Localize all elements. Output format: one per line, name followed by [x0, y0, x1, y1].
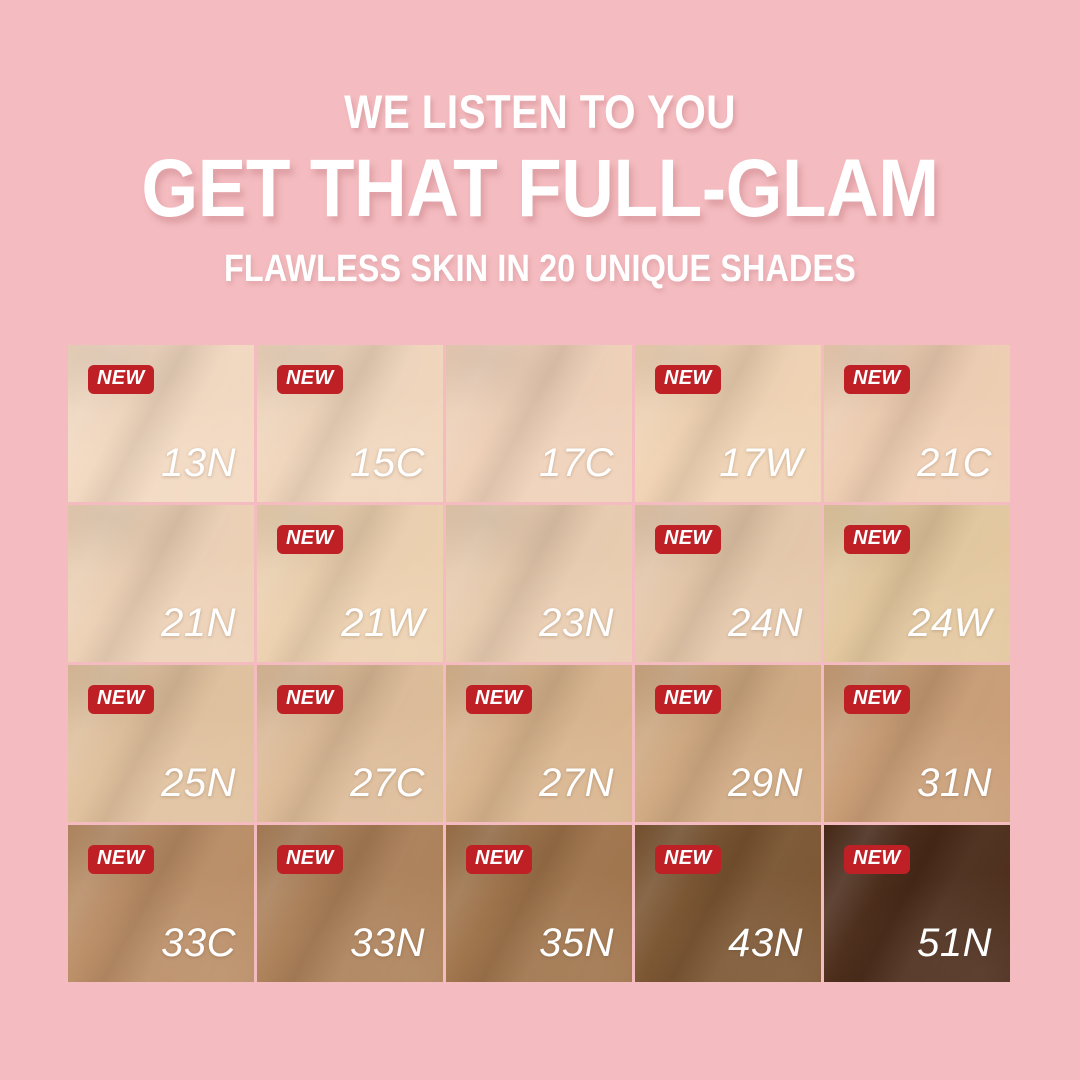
shade-code-label: 13N	[161, 443, 236, 483]
shade-swatch[interactable]: NEW21C	[824, 345, 1010, 502]
shade-range-promo-page: { "background_color": "#f4bcc0", "header…	[0, 0, 1080, 1080]
shade-swatch[interactable]: NEW33N	[257, 825, 443, 982]
new-badge: NEW	[844, 845, 910, 874]
shade-code-label: 51N	[917, 923, 992, 963]
shade-code-label: 21C	[917, 443, 992, 483]
page-title: GET THAT FULL-GLAM	[59, 148, 1020, 230]
shade-swatch[interactable]: NEW27C	[257, 665, 443, 822]
shade-code-label: 21W	[341, 603, 425, 643]
new-badge: NEW	[844, 365, 910, 394]
shade-swatch[interactable]: NEW43N	[635, 825, 821, 982]
shade-code-label: 29N	[728, 763, 803, 803]
new-badge: NEW	[655, 365, 721, 394]
shade-code-label: 24N	[728, 603, 803, 643]
new-badge: NEW	[466, 685, 532, 714]
eyebrow-text: WE LISTEN TO YOU	[76, 88, 1005, 135]
shade-code-label: 25N	[161, 763, 236, 803]
shade-swatch[interactable]: NEW35N	[446, 825, 632, 982]
new-badge: NEW	[655, 845, 721, 874]
shade-code-label: 27C	[350, 763, 425, 803]
new-badge: NEW	[655, 525, 721, 554]
new-badge: NEW	[844, 685, 910, 714]
shade-swatch[interactable]: 21N	[68, 505, 254, 662]
shade-swatch[interactable]: NEW17W	[635, 345, 821, 502]
shade-code-label: 33C	[161, 923, 236, 963]
shade-swatch[interactable]: NEW33C	[68, 825, 254, 982]
new-badge: NEW	[88, 685, 154, 714]
shade-swatch-grid: NEW13NNEW15C17CNEW17WNEW21C21NNEW21W23NN…	[68, 345, 1010, 982]
shade-code-label: 17W	[719, 443, 803, 483]
shade-code-label: 31N	[917, 763, 992, 803]
shade-swatch[interactable]: NEW13N	[68, 345, 254, 502]
shade-swatch[interactable]: 17C	[446, 345, 632, 502]
new-badge: NEW	[655, 685, 721, 714]
shade-code-label: 17C	[539, 443, 614, 483]
new-badge: NEW	[277, 365, 343, 394]
shade-code-label: 23N	[539, 603, 614, 643]
new-badge: NEW	[277, 525, 343, 554]
shade-swatch[interactable]: NEW29N	[635, 665, 821, 822]
shade-swatch[interactable]: NEW31N	[824, 665, 1010, 822]
shade-code-label: 27N	[539, 763, 614, 803]
shade-swatch[interactable]: 23N	[446, 505, 632, 662]
shade-code-label: 35N	[539, 923, 614, 963]
shade-swatch[interactable]: NEW24W	[824, 505, 1010, 662]
new-badge: NEW	[466, 845, 532, 874]
new-badge: NEW	[88, 365, 154, 394]
shade-code-label: 21N	[161, 603, 236, 643]
new-badge: NEW	[277, 845, 343, 874]
new-badge: NEW	[277, 685, 343, 714]
new-badge: NEW	[88, 845, 154, 874]
shade-code-label: 15C	[350, 443, 425, 483]
shade-swatch[interactable]: NEW15C	[257, 345, 443, 502]
shade-swatch[interactable]: NEW21W	[257, 505, 443, 662]
shade-code-label: 33N	[350, 923, 425, 963]
shade-swatch[interactable]: NEW27N	[446, 665, 632, 822]
new-badge: NEW	[844, 525, 910, 554]
shade-swatch[interactable]: NEW24N	[635, 505, 821, 662]
subheading-text: FLAWLESS SKIN IN 20 UNIQUE SHADES	[81, 250, 999, 288]
shade-code-label: 24W	[908, 603, 992, 643]
shade-swatch[interactable]: NEW25N	[68, 665, 254, 822]
shade-code-label: 43N	[728, 923, 803, 963]
shade-swatch[interactable]: NEW51N	[824, 825, 1010, 982]
